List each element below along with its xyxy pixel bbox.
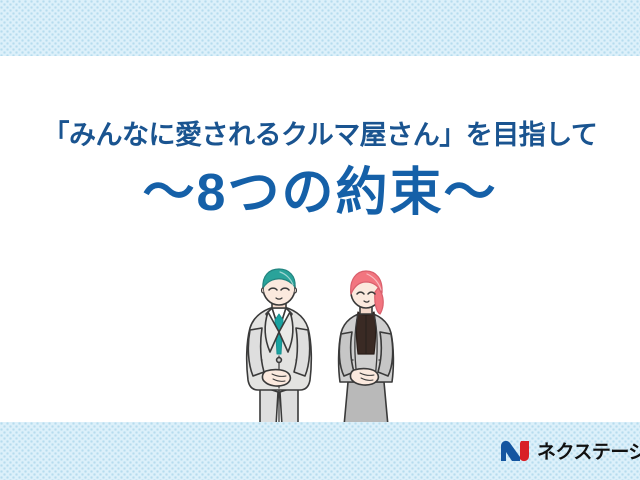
headline-line-1: 「みんなに愛されるクルマ屋さん」を目指して [0,118,640,152]
figure-businesswoman [339,271,394,426]
two-bowing-staff-illustration [236,268,416,426]
headline-block: 「みんなに愛されるクルマ屋さん」を目指して ～8つの約束～ [0,118,640,222]
top-dot-band [0,0,640,56]
headline-line-2: ～8つの約束～ [0,164,640,222]
nextage-n-mark [500,440,530,462]
nextage-logo-text: ネクステージ [537,437,640,464]
promo-banner: 「みんなに愛されるクルマ屋さん」を目指して ～8つの約束～ [0,0,640,480]
figure-businessman [247,269,312,426]
nextage-logo: ネクステージ [500,437,640,464]
